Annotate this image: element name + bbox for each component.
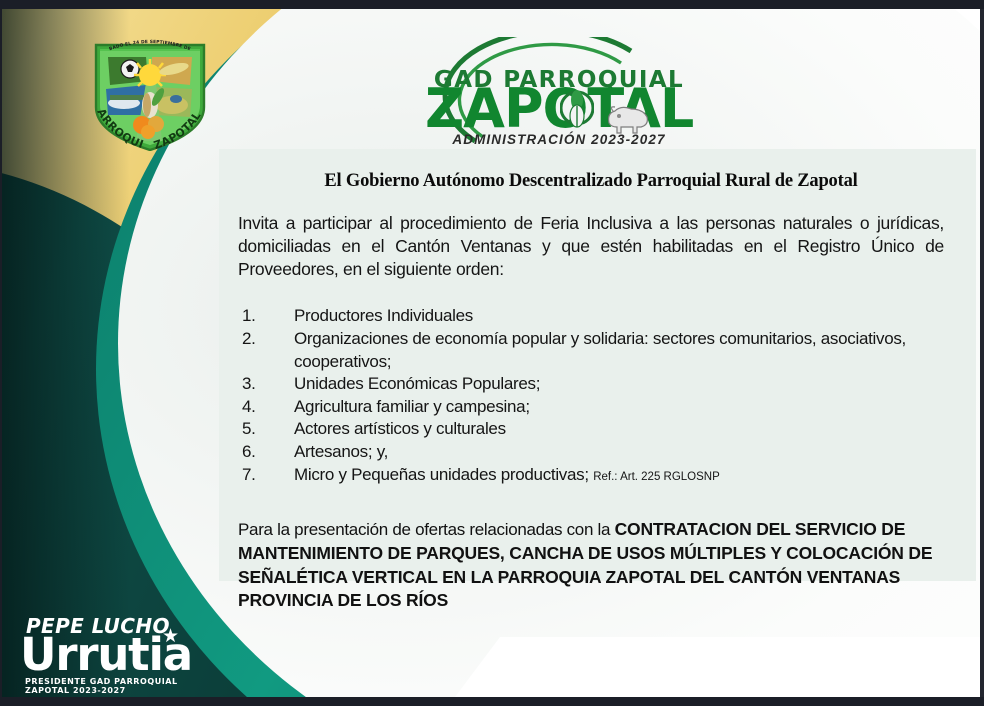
list-item-number: 5. (238, 418, 294, 441)
frame-edge-right (980, 0, 984, 706)
frame-edge-left (0, 0, 2, 706)
frame-bar-top (0, 0, 984, 9)
background-white-wedge (455, 637, 984, 697)
list-item: 2. Organizaciones de economía popular y … (238, 328, 944, 373)
president-signature-lockup: PEPE LUCHO ★ Urrutia PRESIDENTE GAD PARR… (20, 616, 216, 688)
list-item-text: Organizaciones de economía popular y sol… (294, 328, 944, 373)
logo-line-administracion: ADMINISTRACIÓN 2023-2027 (425, 132, 693, 147)
star-icon: ★ (162, 627, 179, 646)
list-item: 1. Productores Individuales (238, 305, 944, 328)
list-item-number: 3. (238, 373, 294, 396)
announcement-body: El Gobierno Autónomo Descentralizado Par… (238, 159, 944, 613)
logo-cow-icon (603, 101, 653, 135)
list-item-number: 6. (238, 441, 294, 464)
gad-parroquial-zapotal-logo: GAD PARROQUIAL ZAPOTAL ADMINISTRACIÓN 20… (425, 35, 693, 147)
list-item-number: 1. (238, 305, 294, 328)
list-item-number: 2. (238, 328, 294, 373)
list-item-text: Micro y Pequeñas unidades productivas; R… (294, 464, 944, 487)
page-title: El Gobierno Autónomo Descentralizado Par… (238, 171, 944, 192)
list-item: 5. Actores artísticos y culturales (238, 418, 944, 441)
list-item: 3. Unidades Económicas Populares; (238, 373, 944, 396)
poster-artboard: APROBADO EL 24 DE SEPTIEMBRE DE 1952 PAR… (0, 9, 984, 697)
list-item: 4. Agricultura familiar y campesina; (238, 396, 944, 419)
list-item-number: 4. (238, 396, 294, 419)
list-item-text: Artesanos; y, (294, 441, 944, 464)
list-item-number: 7. (238, 464, 294, 487)
list-item-text: Actores artísticos y culturales (294, 418, 944, 441)
closing-lead-text: Para la presentación de ofertas relacion… (238, 520, 615, 539)
eligibility-list: 1. Productores Individuales 2. Organizac… (238, 305, 944, 486)
parroquia-zapotal-coat-of-arms-icon: APROBADO EL 24 DE SEPTIEMBRE DE 1952 PAR… (86, 29, 214, 151)
intro-paragraph: Invita a participar al procedimiento de … (238, 212, 944, 281)
list-item-text: Agricultura familiar y campesina; (294, 396, 944, 419)
list-item: 6. Artesanos; y, (238, 441, 944, 464)
signature-last-name: Urrutia (20, 634, 216, 675)
list-item-reference: Ref.: Art. 225 RGLOSNP (593, 471, 720, 483)
logo-leaf-icon (560, 83, 594, 133)
poster-canvas: APROBADO EL 24 DE SEPTIEMBRE DE 1952 PAR… (0, 0, 984, 706)
closing-paragraph: Para la presentación de ofertas relacion… (238, 518, 944, 613)
list-item-text: Unidades Económicas Populares; (294, 373, 944, 396)
list-item: 7. Micro y Pequeñas unidades productivas… (238, 464, 944, 487)
list-item-text: Productores Individuales (294, 305, 944, 328)
frame-bar-bottom (0, 697, 984, 706)
